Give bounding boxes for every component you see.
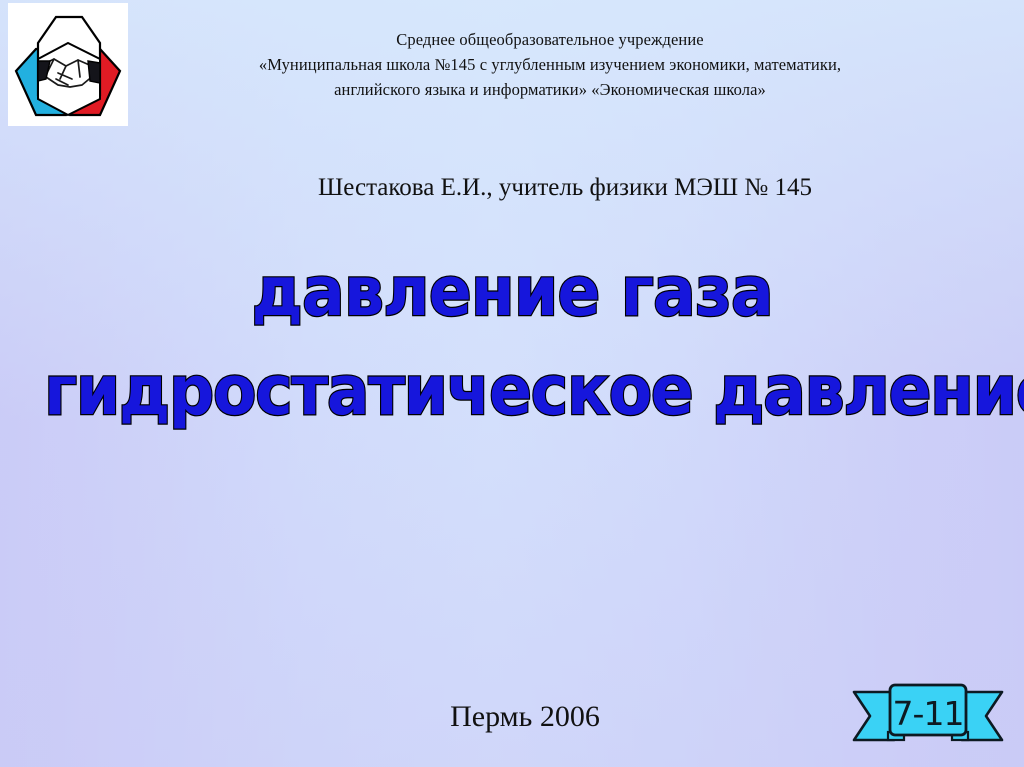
handshake-cuff-right [88, 61, 100, 83]
school-name-line-1: Среднее общеобразовательное учреждение [150, 27, 950, 52]
title-line-2: гидростатическое давление [0, 357, 1024, 426]
place-and-year: Пермь 2006 [330, 700, 720, 733]
title-line-1: давление газа [0, 258, 1024, 327]
title-line-1-text: давление газа [251, 258, 772, 327]
title-line-2-text: гидростатическое давление [44, 357, 1024, 426]
school-logo [8, 3, 128, 126]
school-name-line-3: английского языка и информатики» «Эконом… [150, 77, 950, 102]
author-line: Шестакова Е.И., учитель физики МЭШ № 145 [150, 173, 980, 203]
school-name-header: Среднее общеобразовательное учреждение «… [150, 27, 950, 102]
school-name-line-2: «Муниципальная школа №145 с углубленным … [150, 52, 950, 77]
grade-banner: 7-11 [848, 680, 1008, 748]
presentation-slide: Среднее общеобразовательное учреждение «… [0, 0, 1024, 767]
grade-banner-label: 7-11 [848, 680, 1008, 748]
